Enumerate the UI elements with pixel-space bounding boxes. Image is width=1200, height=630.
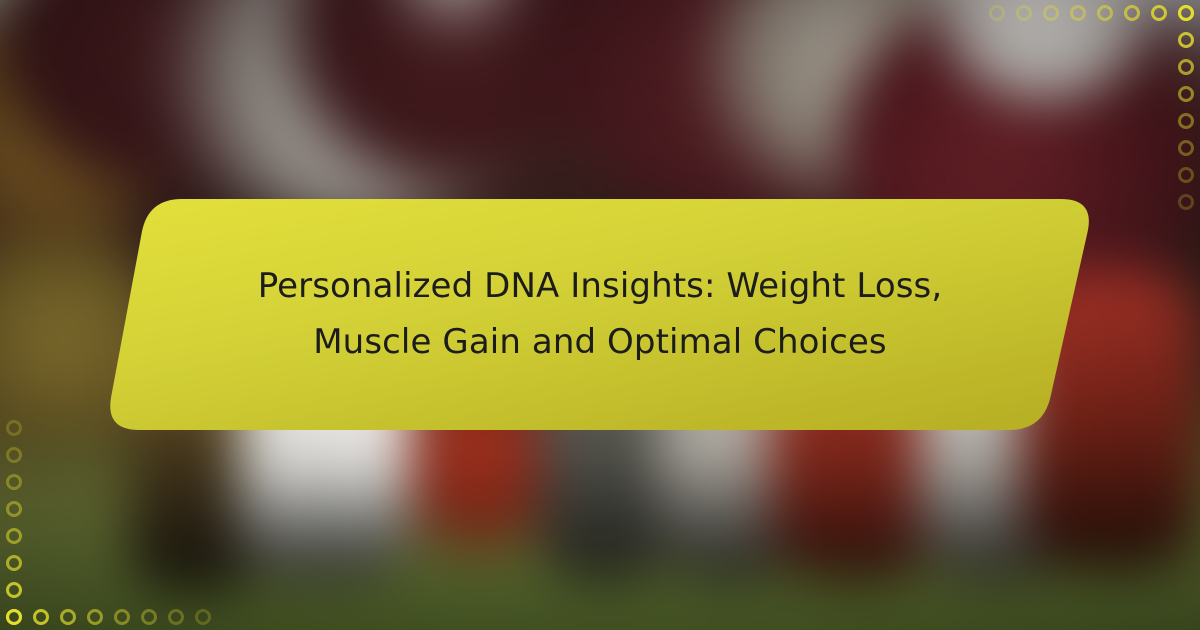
decorative-dot: [1043, 5, 1059, 21]
decorative-dot: [33, 609, 49, 625]
decorative-dot: [6, 582, 22, 598]
decorative-dot: [1178, 86, 1194, 102]
headline-banner: Personalized DNA Insights: Weight Loss, …: [95, 190, 1105, 440]
decorative-dot: [1178, 113, 1194, 129]
decorative-dot: [989, 5, 1005, 21]
decorative-dot: [6, 447, 22, 463]
decorative-dot: [6, 609, 22, 625]
decorative-dot: [1124, 5, 1140, 21]
decorative-dot: [1178, 5, 1194, 21]
decorative-dot: [6, 555, 22, 571]
decorative-dot: [1178, 167, 1194, 183]
decorative-dot: [1016, 5, 1032, 21]
decorative-dot: [1178, 32, 1194, 48]
headline-line-1: Personalized DNA Insights: Weight Loss,: [258, 265, 943, 309]
decorative-dot: [1178, 194, 1194, 210]
decorative-dot: [1151, 5, 1167, 21]
decorative-dot: [6, 528, 22, 544]
headline-line-2: Muscle Gain and Optimal Choices: [313, 321, 887, 365]
decorative-dot: [1070, 5, 1086, 21]
decorative-dot: [60, 609, 76, 625]
decorative-dot: [1178, 140, 1194, 156]
decorative-dot: [114, 609, 130, 625]
decorative-dot: [1097, 5, 1113, 21]
decorative-dot: [195, 609, 211, 625]
decorative-dot: [1178, 59, 1194, 75]
social-card-canvas: Personalized DNA Insights: Weight Loss, …: [0, 0, 1200, 630]
headline-text-block: Personalized DNA Insights: Weight Loss, …: [95, 190, 1105, 440]
decorative-dot: [6, 474, 22, 490]
decorative-dot: [87, 609, 103, 625]
decorative-dot: [6, 420, 22, 436]
decorative-dot: [141, 609, 157, 625]
decorative-dot: [6, 501, 22, 517]
decorative-dot: [168, 609, 184, 625]
